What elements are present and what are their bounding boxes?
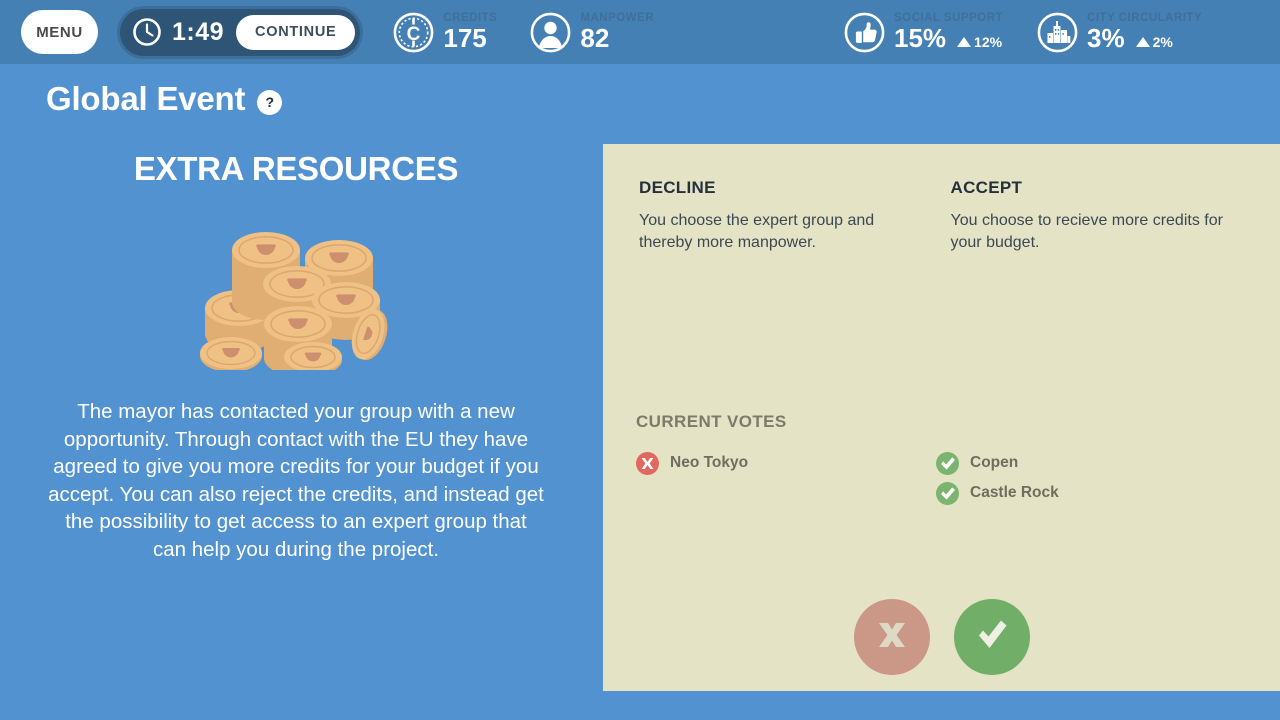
stat-value-city-circularity: 3% — [1087, 25, 1125, 52]
stat-credits: C CREDITS 175 — [393, 12, 497, 53]
triangle-up-icon — [957, 37, 971, 47]
vote-no-icon — [636, 452, 659, 475]
current-votes-list: Neo Tokyo Copen Castle Rock — [636, 448, 1236, 508]
stat-delta-social-support: 12% — [957, 34, 1002, 50]
timer-panel: 1:49 CONTINUE — [120, 9, 360, 56]
vote-row: Copen — [936, 448, 1236, 478]
choice-title-accept: ACCEPT — [951, 178, 1245, 198]
choice-accept: ACCEPT You choose to recieve more credit… — [951, 178, 1245, 254]
help-icon[interactable]: ? — [257, 90, 282, 115]
vote-yes-icon — [936, 482, 959, 505]
coin-stacks-illustration — [0, 210, 592, 370]
stat-delta-city-circularity: 2% — [1136, 34, 1173, 50]
stat-manpower: MANPOWER 82 — [530, 12, 654, 53]
votes-column-yes: Copen Castle Rock — [936, 448, 1236, 508]
city-skyline-icon — [1037, 12, 1078, 53]
stat-delta-value-social-support: 12% — [974, 34, 1002, 50]
event-panel: EXTRA RESOURCES — [0, 150, 592, 563]
action-buttons — [603, 599, 1280, 675]
stat-value-manpower: 82 — [580, 25, 609, 52]
menu-button[interactable]: MENU — [21, 10, 98, 54]
triangle-up-icon — [1136, 37, 1150, 47]
page-title: Global Event — [46, 80, 245, 118]
current-votes-heading: CURRENT VOTES — [636, 412, 787, 432]
event-title: EXTRA RESOURCES — [0, 150, 592, 188]
stat-delta-value-city-circularity: 2% — [1153, 34, 1173, 50]
stat-social-support: SOCIAL SUPPORT 15% 12% — [844, 12, 1003, 53]
choice-desc-decline: You choose the expert group and thereby … — [639, 210, 929, 254]
stat-city-circularity: CITY CIRCULARITY 3% 2% — [1037, 12, 1202, 53]
x-mark-icon — [871, 614, 913, 661]
thumbs-up-icon — [844, 12, 885, 53]
votes-column-no: Neo Tokyo — [636, 448, 936, 508]
choice-desc-accept: You choose to recieve more credits for y… — [951, 210, 1241, 254]
event-description: The mayor has contacted your group with … — [46, 398, 546, 563]
vote-row: Neo Tokyo — [636, 448, 936, 478]
vote-name: Copen — [970, 454, 1018, 472]
person-icon — [530, 12, 571, 53]
check-mark-icon — [970, 613, 1014, 662]
page-title-group: Global Event ? — [46, 80, 282, 118]
stat-value-credits: 175 — [443, 25, 486, 52]
choice-decline: DECLINE You choose the expert group and … — [639, 178, 933, 254]
continue-button[interactable]: CONTINUE — [236, 15, 355, 50]
accept-button[interactable] — [954, 599, 1030, 675]
stat-value-social-support: 15% — [894, 25, 946, 52]
timer-value: 1:49 — [172, 18, 224, 47]
top-bar: MENU 1:49 CONTINUE C CREDITS 175 — [0, 0, 1280, 64]
clock-icon — [132, 17, 162, 47]
credit-coin-icon: C — [393, 12, 434, 53]
vote-name: Castle Rock — [970, 484, 1059, 502]
choice-columns: DECLINE You choose the expert group and … — [603, 144, 1280, 254]
vote-row: Castle Rock — [936, 478, 1236, 508]
decline-button[interactable] — [854, 599, 930, 675]
vote-name: Neo Tokyo — [670, 454, 748, 472]
vote-yes-icon — [936, 452, 959, 475]
choice-title-decline: DECLINE — [639, 178, 933, 198]
